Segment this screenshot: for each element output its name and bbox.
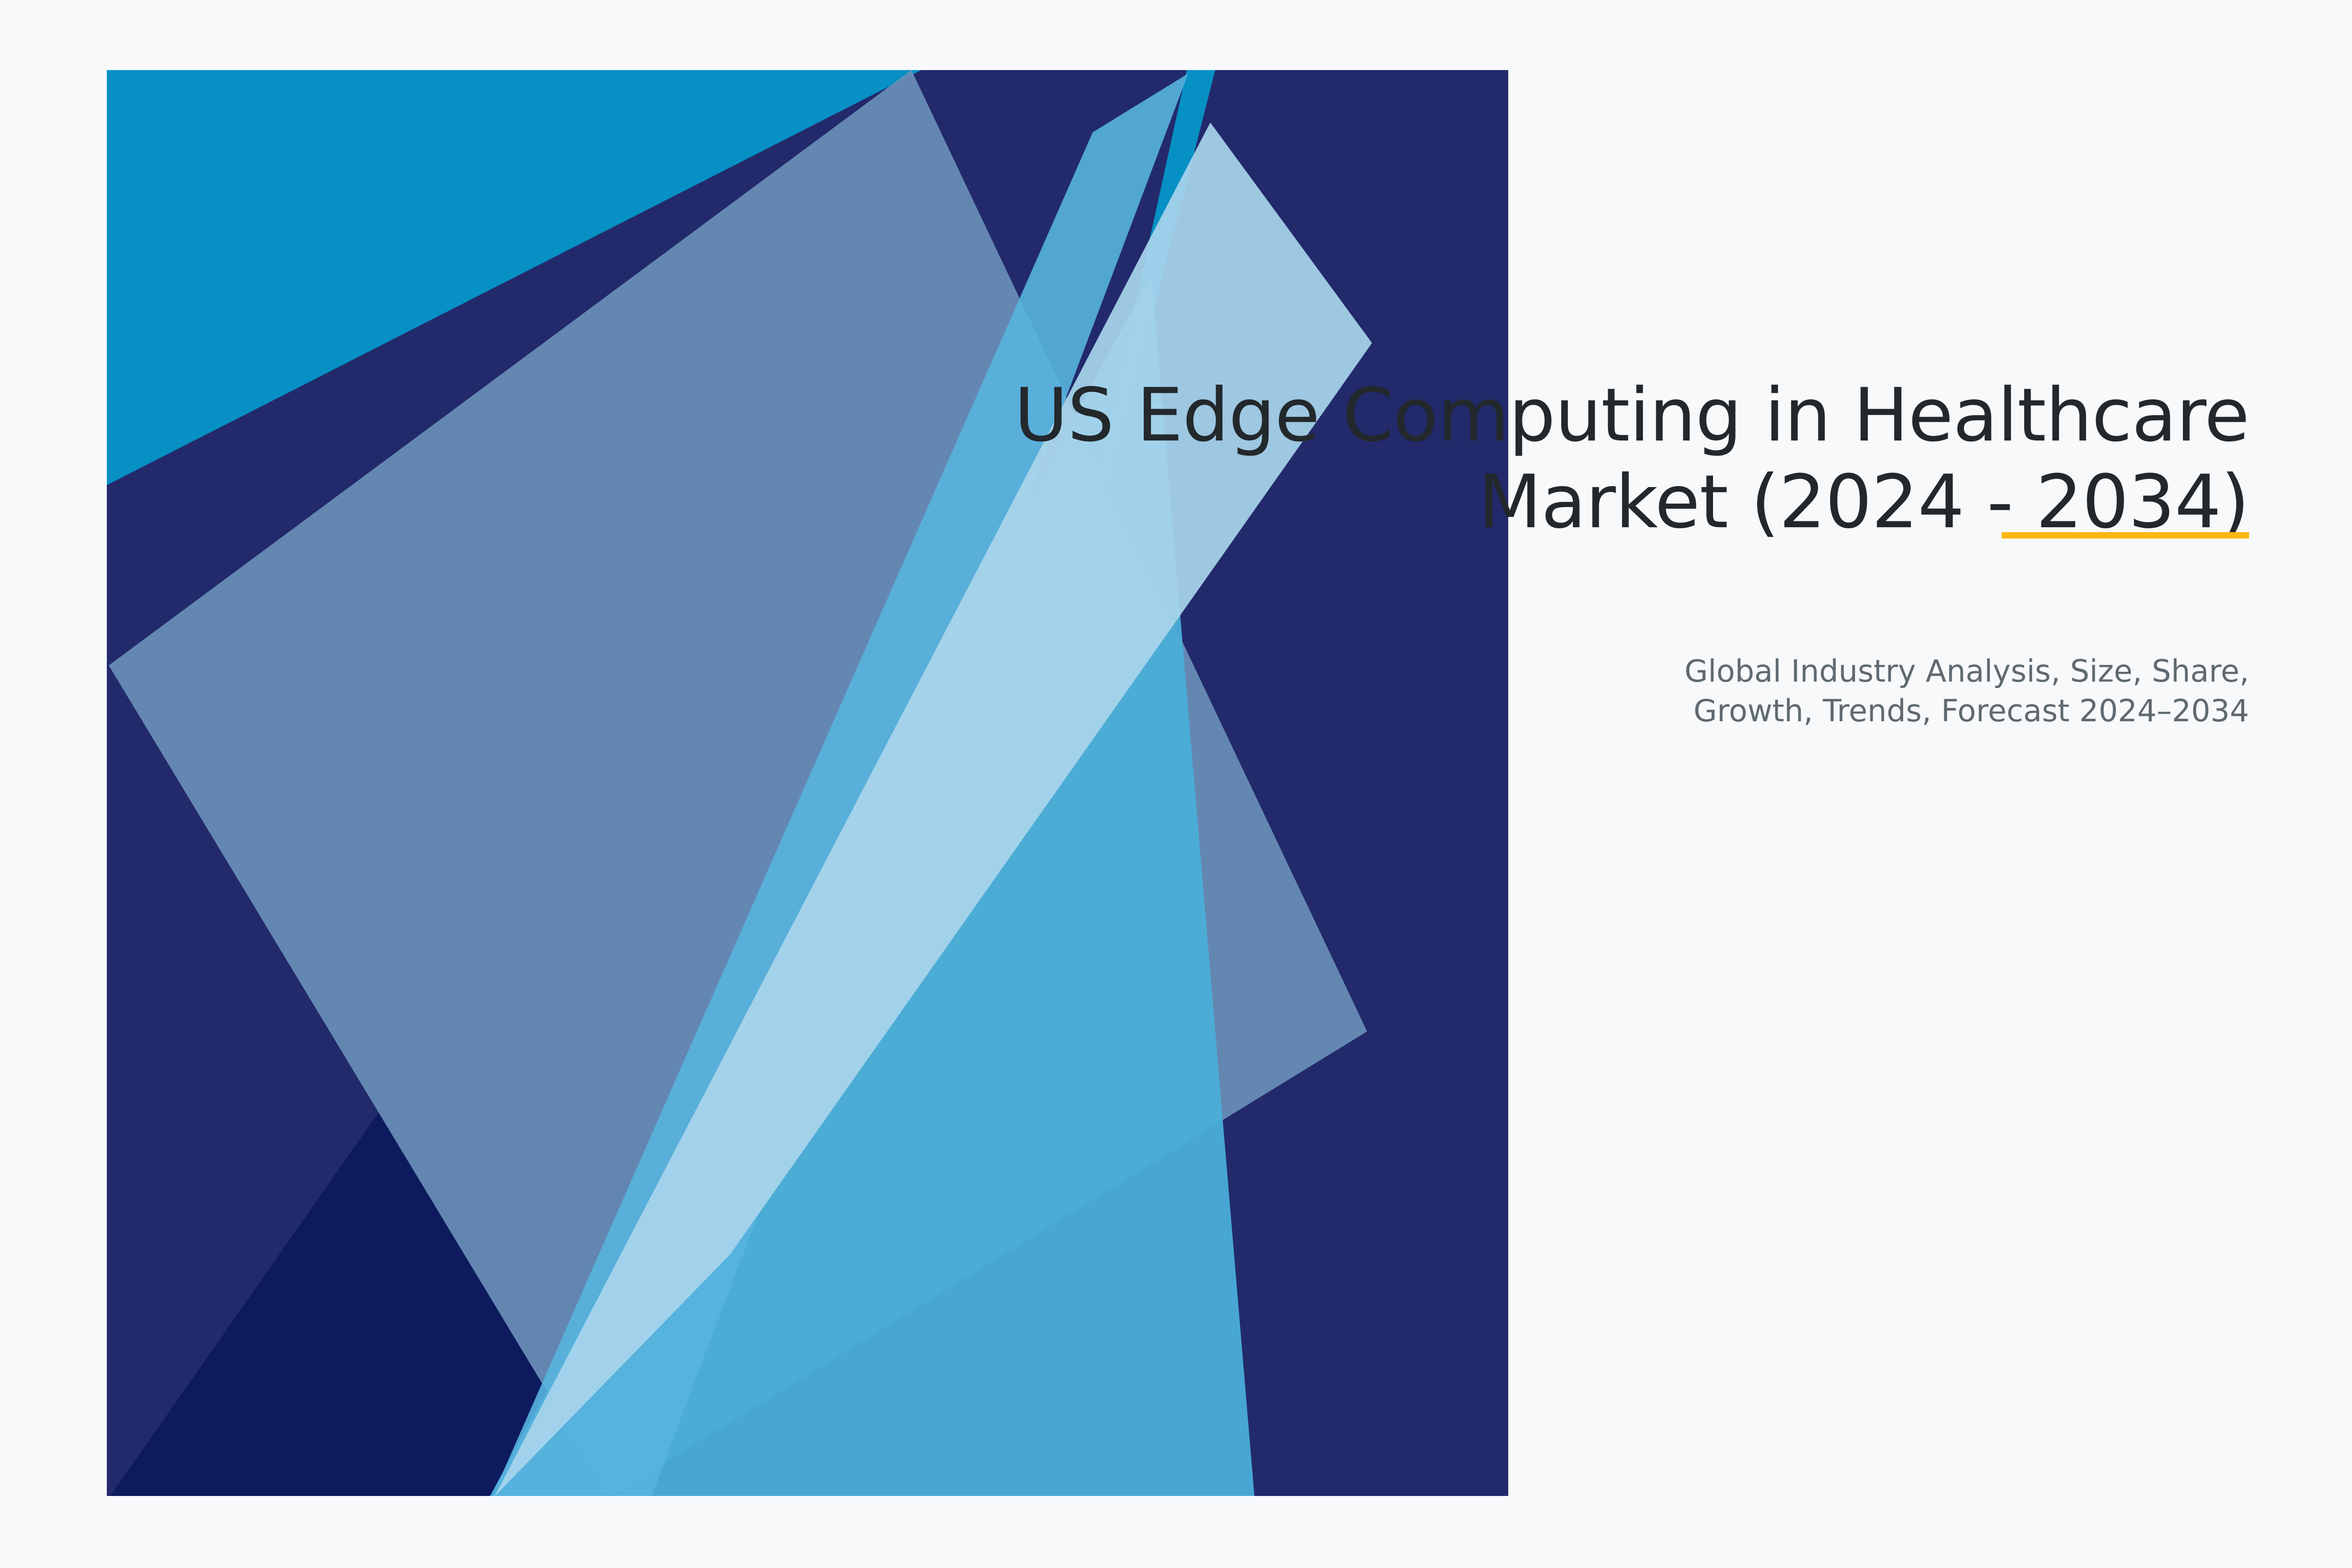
accent-underline [2002,532,2249,539]
page-subtitle: Global Industry Analysis, Size, Share, G… [1421,652,2249,731]
abstract-geometric-banner [0,0,2352,1568]
report-cover-page: US Edge Computing in Healthcare Market (… [0,0,2352,1568]
cover-artwork [0,0,2352,1568]
title-block: US Edge Computing in Healthcare Market (… [931,372,2249,546]
subtitle-block: Global Industry Analysis, Size, Share, G… [1421,652,2249,731]
page-title: US Edge Computing in Healthcare Market (… [931,372,2249,546]
